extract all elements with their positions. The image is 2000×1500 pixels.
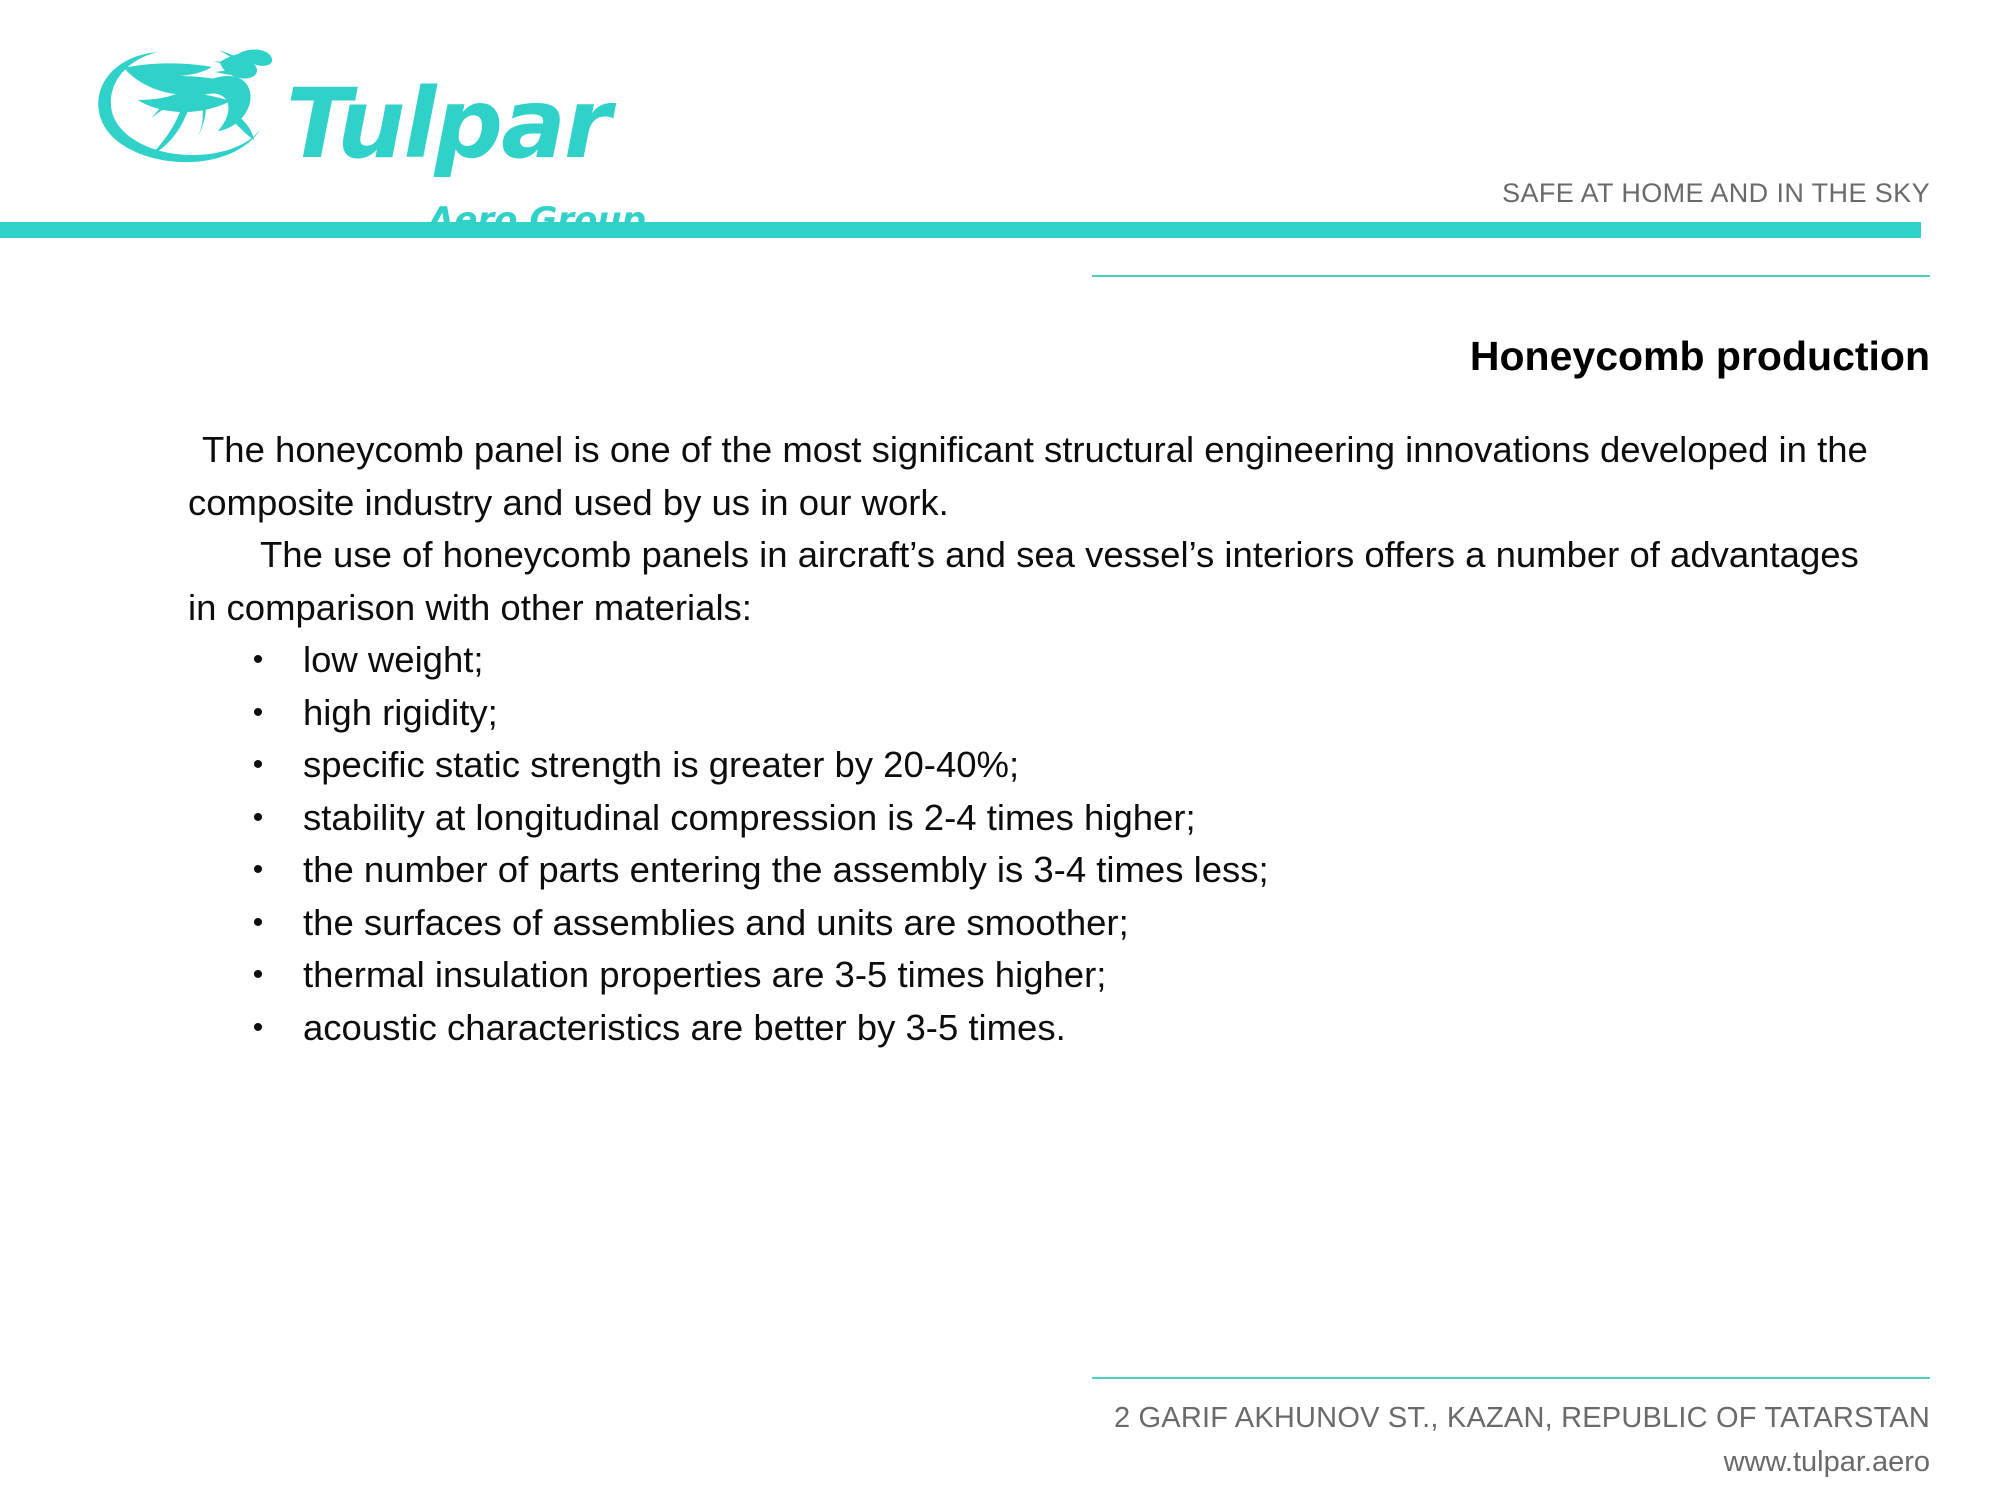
advantages-bullet-list: •low weight; •high rigidity; •specific s… bbox=[188, 634, 1888, 1054]
list-item: •the number of parts entering the assemb… bbox=[188, 844, 1888, 897]
brand-wordmark: Tulpar bbox=[286, 76, 609, 172]
slide-canvas: Tulpar Aero Group SAFE AT HOME AND IN TH… bbox=[0, 0, 2000, 1500]
list-item-label: high rigidity; bbox=[303, 692, 498, 733]
slide-body: The honeycomb panel is one of the most s… bbox=[188, 424, 1888, 1054]
list-item-label: stability at longitudinal compression is… bbox=[303, 797, 1196, 838]
header-accent-bar bbox=[0, 222, 1921, 238]
list-item-label: low weight; bbox=[303, 639, 484, 680]
list-item: •acoustic characteristics are better by … bbox=[188, 1002, 1888, 1055]
bullet-icon: • bbox=[250, 739, 266, 792]
list-item: •stability at longitudinal compression i… bbox=[188, 792, 1888, 845]
list-item: •specific static strength is greater by … bbox=[188, 739, 1888, 792]
body-paragraph-2: The use of honeycomb panels in aircraft’… bbox=[188, 529, 1888, 634]
list-item: •thermal insulation properties are 3-5 t… bbox=[188, 949, 1888, 1002]
pegasus-logo-icon bbox=[88, 36, 288, 166]
footer-address: 2 GARIF AKHUNOV ST., KAZAN, REPUBLIC OF … bbox=[730, 1396, 1930, 1440]
list-item-label: the number of parts entering the assembl… bbox=[303, 849, 1269, 890]
header-tagline: SAFE AT HOME AND IN THE SKY bbox=[1502, 178, 1930, 209]
bullet-icon: • bbox=[250, 897, 266, 950]
footer-divider-rule bbox=[1092, 1377, 1930, 1379]
bullet-icon: • bbox=[250, 792, 266, 845]
bullet-icon: • bbox=[250, 687, 266, 740]
list-item: •high rigidity; bbox=[188, 687, 1888, 740]
list-item: •low weight; bbox=[188, 634, 1888, 687]
bullet-icon: • bbox=[250, 1002, 266, 1055]
brand-logo[interactable]: Tulpar Aero Group bbox=[88, 28, 618, 223]
slide-header: Tulpar Aero Group SAFE AT HOME AND IN TH… bbox=[0, 0, 2000, 232]
list-item: •the surfaces of assemblies and units ar… bbox=[188, 897, 1888, 950]
footer-website[interactable]: www.tulpar.aero bbox=[730, 1440, 1930, 1484]
bullet-icon: • bbox=[250, 949, 266, 1002]
body-paragraph-1: The honeycomb panel is one of the most s… bbox=[188, 424, 1888, 529]
list-item-label: thermal insulation properties are 3-5 ti… bbox=[303, 954, 1106, 995]
slide-footer: 2 GARIF AKHUNOV ST., KAZAN, REPUBLIC OF … bbox=[730, 1396, 1930, 1484]
list-item-label: specific static strength is greater by 2… bbox=[303, 744, 1019, 785]
bullet-icon: • bbox=[250, 844, 266, 897]
list-item-label: the surfaces of assemblies and units are… bbox=[303, 902, 1129, 943]
bullet-icon: • bbox=[250, 634, 266, 687]
list-item-label: acoustic characteristics are better by 3… bbox=[303, 1007, 1066, 1048]
page-title: Honeycomb production bbox=[830, 333, 1930, 380]
title-divider-rule bbox=[1092, 275, 1930, 277]
